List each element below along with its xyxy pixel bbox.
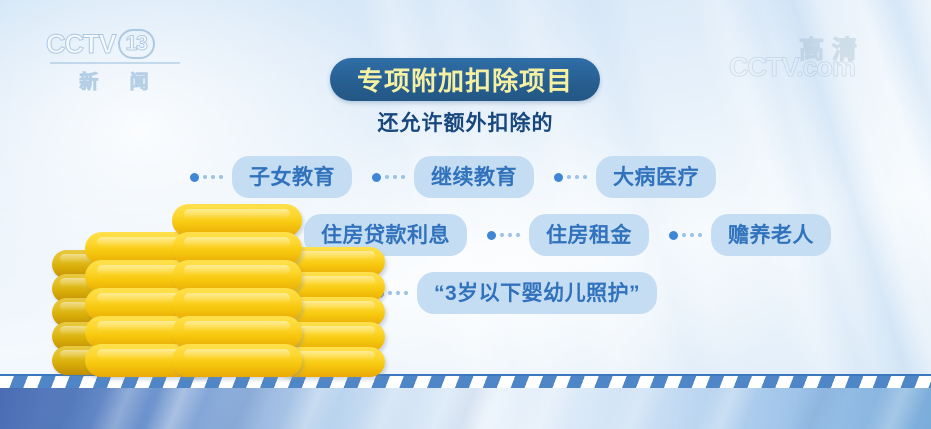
bottom-band-swoosh-10 (675, 388, 770, 429)
deduction-item: 子女教育 (190, 156, 352, 198)
deduction-chip[interactable]: “3岁以下婴幼儿照护” (417, 272, 657, 314)
coin-stack-3 (172, 203, 302, 377)
leader-dot-icon (219, 175, 223, 179)
bottom-band (0, 388, 931, 429)
deduction-item: 大病医疗 (554, 156, 716, 198)
coin-stacks-illustration (0, 200, 420, 385)
deduction-chip-label: “3岁以下婴幼儿照护” (434, 277, 640, 307)
deduction-chip-label: 住房租金 (546, 219, 632, 249)
bottom-band-swoosh-5 (260, 388, 355, 429)
bullet-leader-icon (669, 231, 702, 240)
cctv-brand-text: CCTV (46, 29, 116, 59)
leader-dot-icon (698, 233, 702, 237)
bullet-dot-icon (669, 231, 678, 240)
deduction-chip-label: 子女教育 (249, 161, 335, 191)
leader-dot-icon (385, 175, 389, 179)
cctv-channel-number: 13 (118, 29, 155, 59)
cctv-channel-name: 新 闻 (46, 67, 182, 94)
cctv-domain-watermark: CCTV.com (729, 52, 855, 83)
bottom-band-swoosh-9 (585, 388, 680, 429)
bottom-dashed-stripe (0, 376, 931, 388)
deduction-chip[interactable]: 子女教育 (232, 156, 352, 198)
leader-dot-icon (575, 175, 579, 179)
bottom-band-swoosh-8 (495, 388, 590, 429)
cctv13-logo: CCTV13 新 闻 (46, 27, 182, 91)
leader-dot-icon (583, 175, 587, 179)
deduction-chip[interactable]: 继续教育 (414, 156, 534, 198)
coin (172, 344, 302, 377)
leader-dot-icon (401, 175, 405, 179)
bullet-dot-icon (190, 173, 199, 182)
leader-dot-icon (682, 233, 686, 237)
bullet-leader-icon (487, 231, 520, 240)
broadcast-screen: CCTV13 新 闻 高清 CCTV.com 专项附加扣除项目 还允许额外扣除的… (0, 0, 931, 429)
deduction-chip[interactable]: 大病医疗 (596, 156, 716, 198)
bottom-band-swoosh-11 (765, 388, 860, 429)
leader-dot-icon (211, 175, 215, 179)
leader-dot-icon (567, 175, 571, 179)
leader-dot-icon (690, 233, 694, 237)
bullet-leader-icon (372, 173, 405, 182)
deduction-item: 继续教育 (372, 156, 534, 198)
deduction-chip-label: 赡养老人 (728, 219, 814, 249)
deduction-item: 住房租金 (487, 214, 649, 256)
leader-dot-icon (393, 175, 397, 179)
cctv13-logo-wordmark: CCTV13 (46, 27, 182, 61)
leader-dot-icon (508, 233, 512, 237)
title-banner: 专项附加扣除项目 (330, 58, 600, 101)
bullet-dot-icon (554, 173, 563, 182)
deduction-row-1: 子女教育继续教育大病医疗 (190, 156, 736, 198)
bottom-band-swoosh-6 (335, 388, 430, 429)
cctv-logo-rule (50, 62, 180, 64)
cctv-watermark: 高清 CCTV.com (729, 30, 909, 86)
bullet-leader-icon (554, 173, 587, 182)
background-swoosh-8 (918, 0, 931, 429)
bottom-band-swoosh-12 (845, 388, 931, 429)
bullet-dot-icon (487, 231, 496, 240)
deduction-chip-label: 继续教育 (431, 161, 517, 191)
leader-dot-icon (500, 233, 504, 237)
deduction-chip[interactable]: 赡养老人 (711, 214, 831, 256)
leader-dot-icon (203, 175, 207, 179)
deduction-item: 赡养老人 (669, 214, 831, 256)
subtitle: 还允许额外扣除的 (0, 107, 931, 137)
bullet-dot-icon (372, 173, 381, 182)
subtitle-text: 还允许额外扣除的 (378, 112, 554, 135)
leader-dot-icon (516, 233, 520, 237)
bullet-leader-icon (190, 173, 223, 182)
deduction-chip[interactable]: 住房租金 (529, 214, 649, 256)
deduction-chip-label: 大病医疗 (613, 161, 699, 191)
title-text: 专项附加扣除项目 (357, 61, 573, 98)
bottom-band-swoosh-7 (415, 388, 510, 429)
